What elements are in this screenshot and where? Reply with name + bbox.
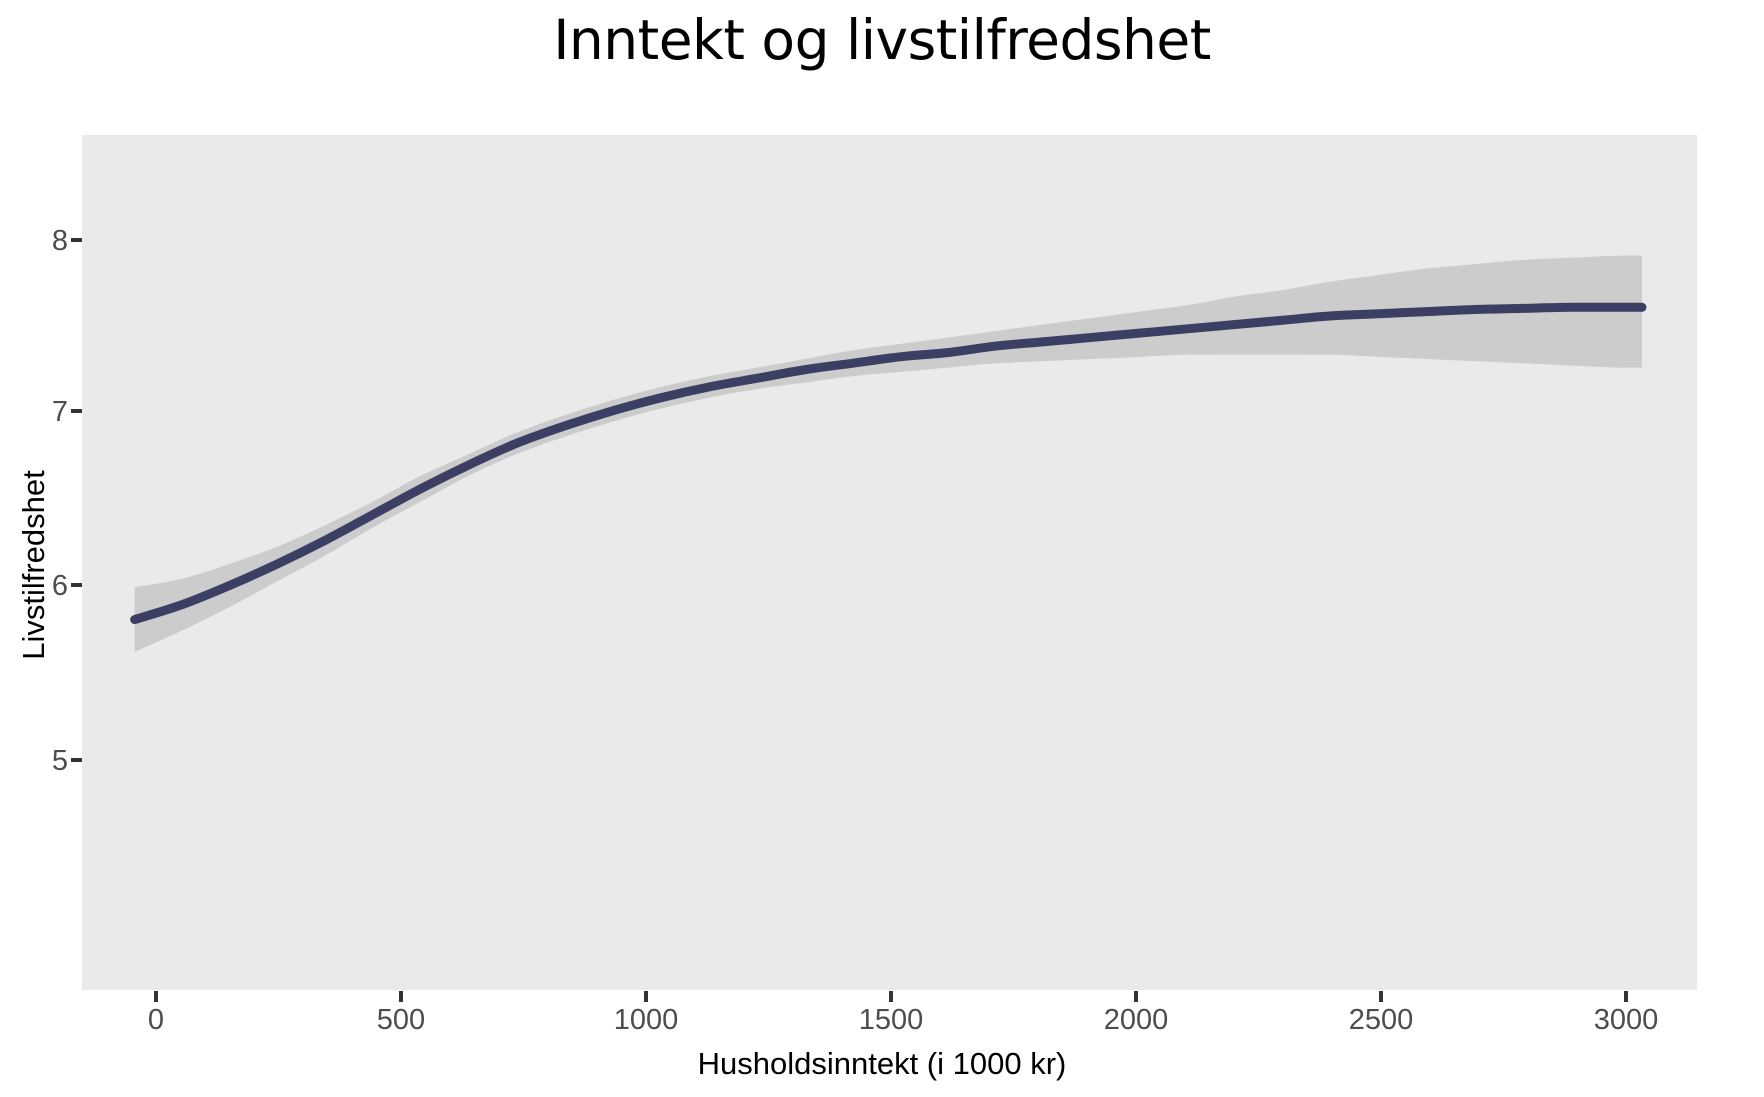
plot-drawing-area <box>82 135 1697 990</box>
chart-title: Inntekt og livstilfredshet <box>0 8 1764 72</box>
x-axis-title: Husholdsinntekt (i 1000 kr) <box>0 1046 1764 1082</box>
ytick-label-8: 8 <box>8 225 68 258</box>
xtick-mark-500 <box>399 991 403 1002</box>
xtick-label-1000: 1000 <box>576 1004 716 1037</box>
xtick-label-1500: 1500 <box>821 1004 961 1037</box>
xtick-label-2000: 2000 <box>1066 1004 1206 1037</box>
xtick-mark-1500 <box>889 991 893 1002</box>
xtick-mark-1000 <box>644 991 648 1002</box>
xtick-label-2500: 2500 <box>1311 1004 1451 1037</box>
xtick-label-0: 0 <box>86 1004 226 1037</box>
xtick-mark-0 <box>154 991 158 1002</box>
ytick-mark-6 <box>71 583 82 587</box>
ytick-mark-5 <box>71 758 82 762</box>
xtick-label-3000: 3000 <box>1556 1004 1696 1037</box>
plot-panel <box>82 135 1697 990</box>
ytick-mark-8 <box>71 238 82 242</box>
ytick-mark-7 <box>71 409 82 413</box>
xtick-mark-2500 <box>1379 991 1383 1002</box>
chart-canvas: Inntekt og livstilfredshet 8 7 6 5 0 500… <box>0 0 1764 1097</box>
xtick-mark-3000 <box>1624 991 1628 1002</box>
xtick-mark-2000 <box>1134 991 1138 1002</box>
xtick-label-500: 500 <box>331 1004 471 1037</box>
y-axis-title: Livstilfredshet <box>16 285 52 845</box>
